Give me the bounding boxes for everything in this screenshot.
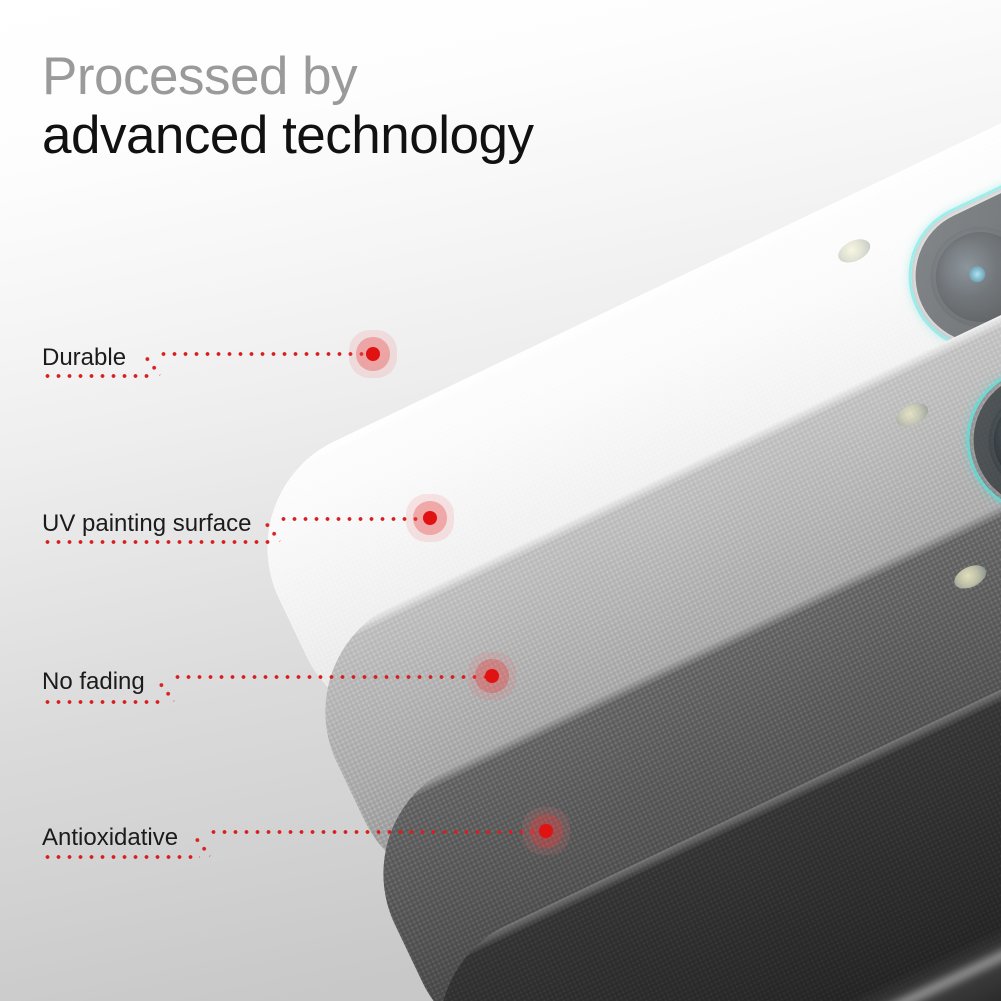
callout-leader-line: [172, 675, 495, 679]
callout-marker-antioxidative: [539, 824, 553, 838]
callout-marker-durable: [366, 347, 380, 361]
callout-underline: [42, 374, 150, 378]
callout-label-durable: Durable: [42, 344, 126, 372]
callout-label-uv-painting-surface: UV painting surface: [42, 510, 251, 538]
callout-leader-line: [208, 830, 550, 834]
callout-marker-no-fading: [485, 669, 499, 683]
callout-underline: [42, 700, 164, 704]
callout-underline: [42, 855, 200, 859]
callout-marker-uv-painting-surface: [423, 511, 437, 525]
callout-label-antioxidative: Antioxidative: [42, 824, 178, 852]
headline-line-1: Processed by: [42, 48, 533, 106]
callout-leader-line: [278, 517, 434, 521]
product-image-canvas: NILLKIN NILLKIN: [0, 0, 1001, 1001]
page-title: Processed by advanced technology: [42, 48, 533, 166]
callout-label-no-fading: No fading: [42, 668, 145, 696]
callout-leader-line: [158, 352, 376, 356]
headline-line-2: advanced technology: [42, 106, 533, 166]
callout-underline: [42, 540, 270, 544]
